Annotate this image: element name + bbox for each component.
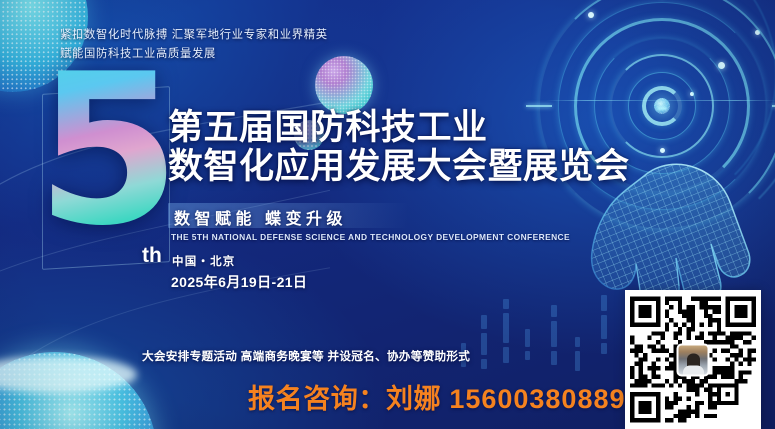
subtitle-english: THE 5TH NATIONAL DEFENSE SCIENCE AND TEC…: [171, 232, 570, 242]
title-line-1: 第五届国防科技工业: [168, 110, 630, 148]
location-text: 中国・北京: [172, 253, 236, 269]
edition-numeral: 5 th: [36, 92, 186, 292]
conference-poster: 紧扣数智化时代脉搏 汇聚军地行业专家和业界精英 赋能国防科技工业高质量发展 5 …: [0, 0, 775, 429]
title-line-2: 数智化应用发展大会暨展览会: [168, 148, 630, 187]
subtitle-chinese: 数智赋能 蝶变升级: [174, 205, 347, 229]
page-title: 第五届国防科技工业 数智化应用发展大会暨展览会: [168, 110, 630, 187]
contact-info: 报名咨询：刘娜 15600380889: [248, 377, 626, 416]
edition-suffix: th: [142, 244, 162, 268]
contact-phone: 15600380889: [449, 384, 625, 414]
qr-code[interactable]: [625, 290, 761, 429]
profile-avatar: [677, 343, 710, 376]
edition-number: 5: [36, 66, 175, 237]
sponsorship-note: 大会安排专题活动 高端商务晚宴等 并设冠名、协办等赞助形式: [142, 348, 470, 364]
date-text: 2025年6月19日-21日: [171, 272, 307, 292]
contact-label: 报名咨询：刘娜: [248, 384, 441, 414]
